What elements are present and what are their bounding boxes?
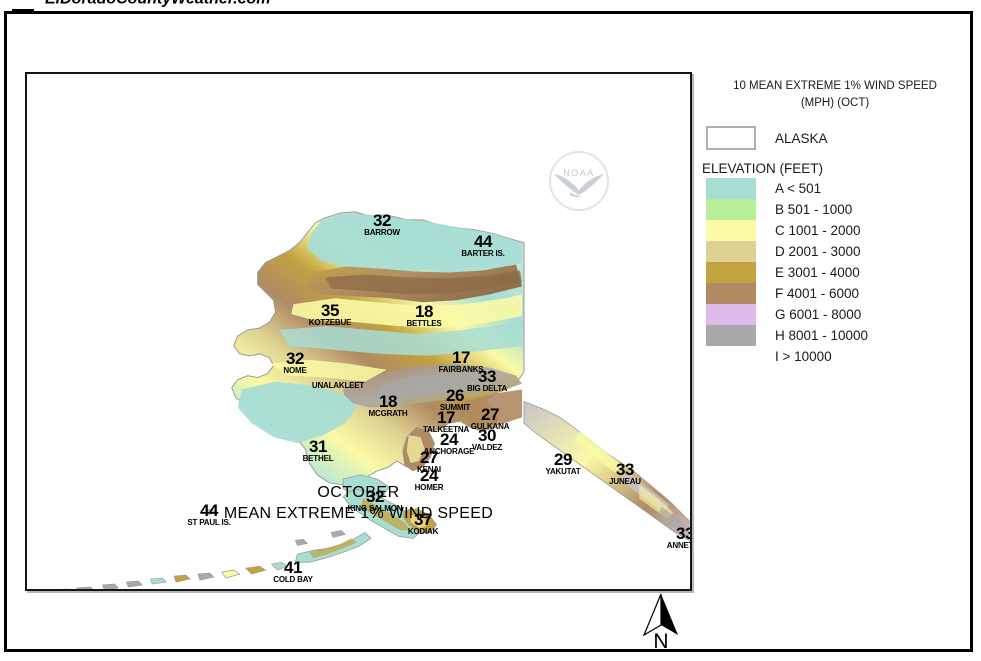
legend-title: 10 MEAN EXTREME 1% WIND SPEED (MPH) (OCT… xyxy=(700,78,972,111)
elevation-class-label: C 1001 - 2000 xyxy=(775,223,861,238)
elevation-swatch xyxy=(706,199,756,220)
mainland-landmass xyxy=(232,212,524,485)
elevation-class-label: A < 501 xyxy=(775,181,821,196)
elevation-class-label: G 6001 - 8000 xyxy=(775,307,861,322)
elevation-class-label: E 3001 - 4000 xyxy=(775,265,860,280)
legend-title-line2: (MPH) (OCT) xyxy=(700,95,970,112)
elevation-class-row: F 4001 - 6000 xyxy=(706,283,972,304)
legend-title-line1: 10 MEAN EXTREME 1% WIND SPEED xyxy=(700,78,970,95)
elevation-class-row: H 8001 - 10000 xyxy=(706,325,972,346)
elevation-swatch xyxy=(706,178,756,199)
elevation-header: ELEVATION (FEET) xyxy=(702,161,972,176)
elevation-swatch xyxy=(706,346,756,367)
svg-text:NOAA: NOAA xyxy=(563,168,595,178)
alaska-label: ALASKA xyxy=(775,131,828,146)
title-rule-left xyxy=(12,9,34,12)
elevation-swatch xyxy=(706,304,756,325)
elevation-class-label: F 4001 - 6000 xyxy=(775,286,859,301)
elevation-swatch xyxy=(706,262,756,283)
elevation-class-label: B 501 - 1000 xyxy=(775,202,852,217)
elevation-class-row: A < 501 xyxy=(706,178,972,199)
southeast-panhandle xyxy=(524,401,689,540)
elevation-swatch xyxy=(706,283,756,304)
north-arrow: N xyxy=(637,592,685,656)
elevation-swatch xyxy=(706,241,756,262)
elevation-class-row: D 2001 - 3000 xyxy=(706,241,972,262)
st-paul-island xyxy=(206,509,215,515)
elevation-class-row: B 501 - 1000 xyxy=(706,199,972,220)
caption-month: OCTOBER xyxy=(224,484,493,502)
elevation-class-row: E 3001 - 4000 xyxy=(706,262,972,283)
elevation-class-list: A < 501B 501 - 1000C 1001 - 2000D 2001 -… xyxy=(706,178,972,367)
noaa-logo-watermark: NOAA xyxy=(548,150,610,212)
elevation-class-row: G 6001 - 8000 xyxy=(706,304,972,325)
alaska-swatch xyxy=(706,126,756,150)
legend-area-row: ALASKA xyxy=(706,126,972,150)
elevation-class-row: C 1001 - 2000 xyxy=(706,220,972,241)
elevation-class-row: I > 10000 xyxy=(706,346,972,367)
elevation-swatch xyxy=(706,325,756,346)
map-panel: NOAA 32BARROW44BARTER IS.35KOTZEBUE18BET… xyxy=(25,72,692,591)
elevation-class-label: D 2001 - 3000 xyxy=(775,244,861,259)
map-legend: 10 MEAN EXTREME 1% WIND SPEED (MPH) (OCT… xyxy=(700,78,972,367)
elevation-class-label: I > 10000 xyxy=(775,349,832,364)
elevation-class-label: H 8001 - 10000 xyxy=(775,328,868,343)
site-title: ElDoradoCountyWeather.com xyxy=(36,0,280,9)
caption-metric: MEAN EXTREME 1% WIND SPEED xyxy=(224,505,493,523)
elevation-swatch xyxy=(706,220,756,241)
screenshot-root: ElDoradoCountyWeather.com xyxy=(0,0,981,661)
map-caption: OCTOBER MEAN EXTREME 1% WIND SPEED xyxy=(224,484,493,523)
